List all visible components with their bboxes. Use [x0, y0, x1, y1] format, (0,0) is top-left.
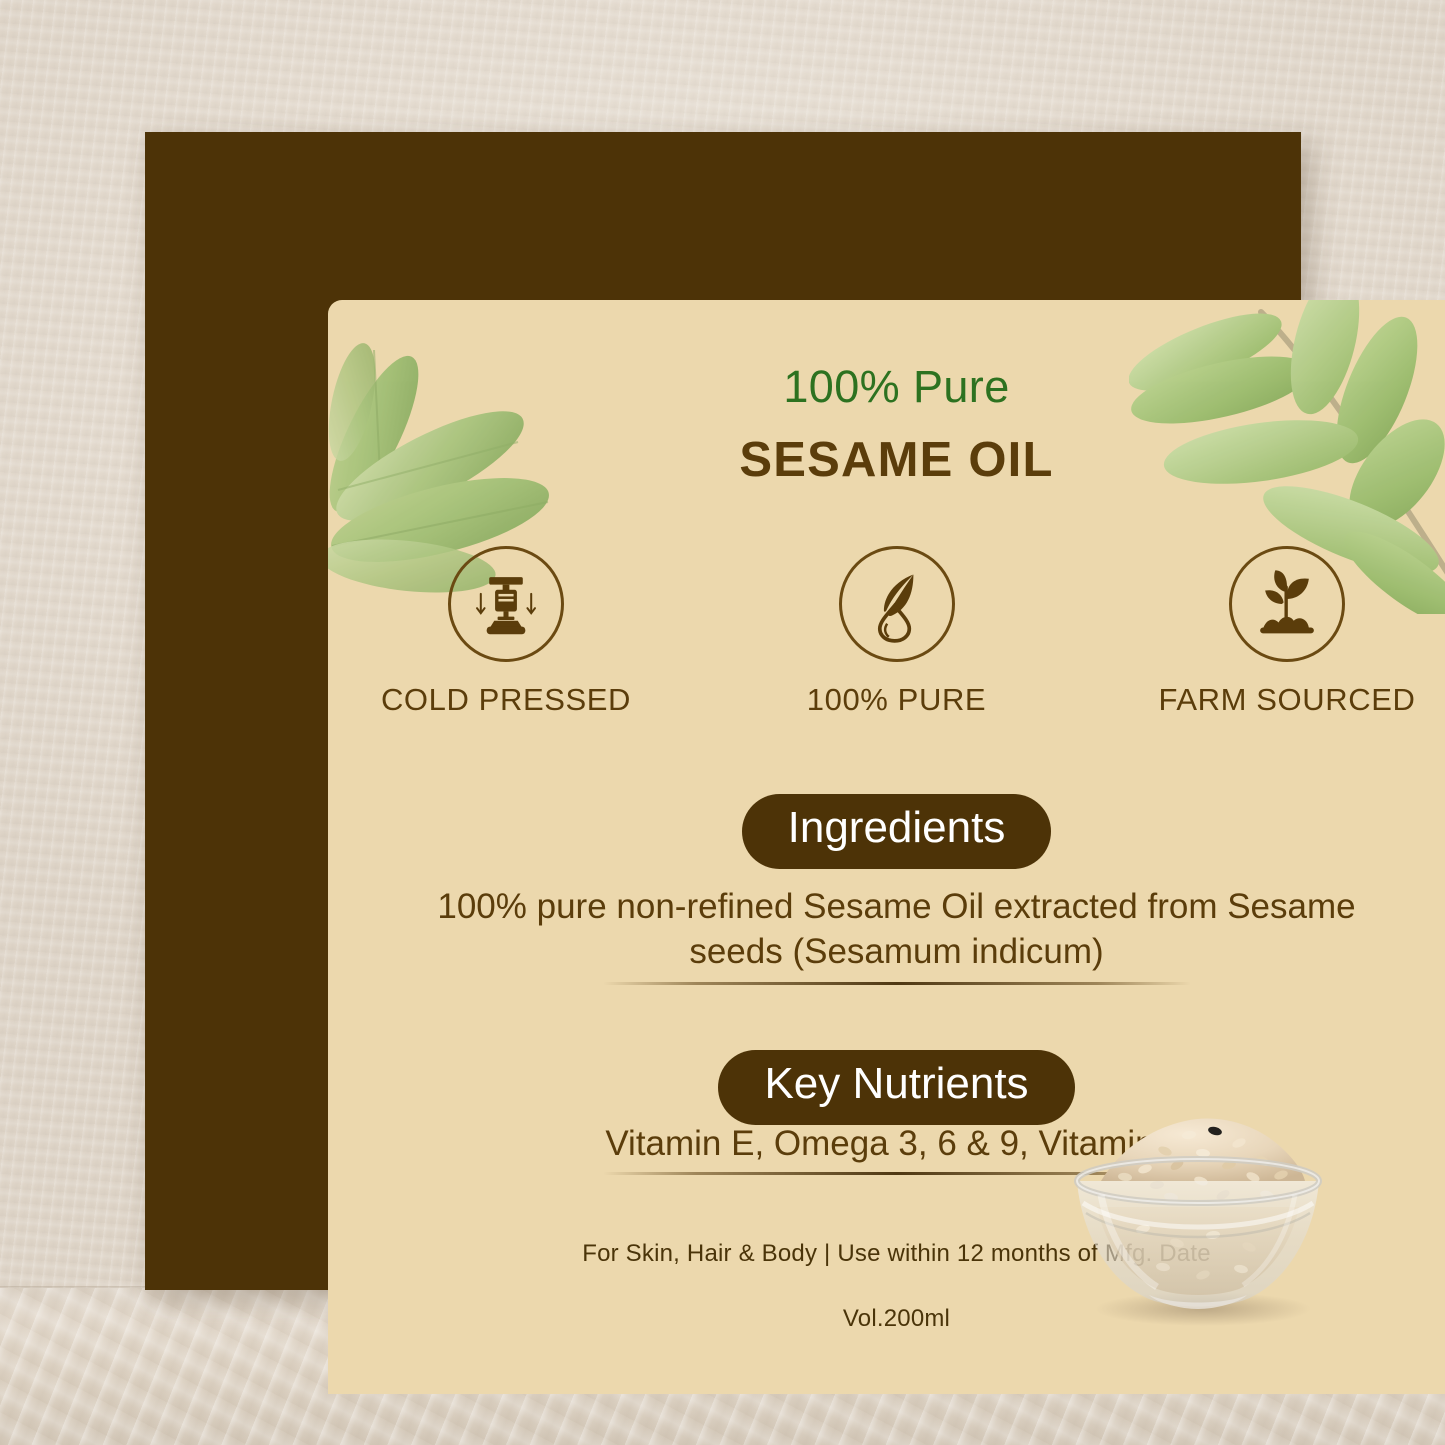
leaf-droplet-icon — [839, 546, 955, 662]
page-title: SESAME OIL — [328, 434, 1445, 488]
feature-badges: COLD PRESSED 100% PURE — [356, 546, 1437, 718]
title-block: 100% Pure SESAME OIL — [328, 362, 1445, 487]
sesame-seed-bowl-image — [1053, 1103, 1343, 1331]
feature-cold-pressed: COLD PRESSED — [356, 546, 656, 718]
feature-label: COLD PRESSED — [356, 682, 656, 718]
seedling-soil-icon — [1229, 546, 1345, 662]
ingredients-body: 100% pure non-refined Sesame Oil extract… — [388, 885, 1405, 975]
feature-label: 100% PURE — [747, 682, 1047, 718]
section-divider — [603, 982, 1191, 985]
cold-press-machine-icon — [448, 546, 564, 662]
page-eyebrow: 100% Pure — [328, 362, 1445, 412]
feature-farm-sourced: FARM SOURCED — [1137, 546, 1437, 718]
ingredients-heading: Ingredients — [328, 794, 1445, 869]
nutrients-pill-label: Key Nutrients — [718, 1050, 1074, 1125]
feature-pure: 100% PURE — [747, 546, 1047, 718]
feature-label: FARM SOURCED — [1137, 682, 1437, 718]
ingredients-pill-label: Ingredients — [742, 794, 1052, 869]
product-label-scene: 100% Pure SESAME OIL — [0, 0, 1445, 1445]
